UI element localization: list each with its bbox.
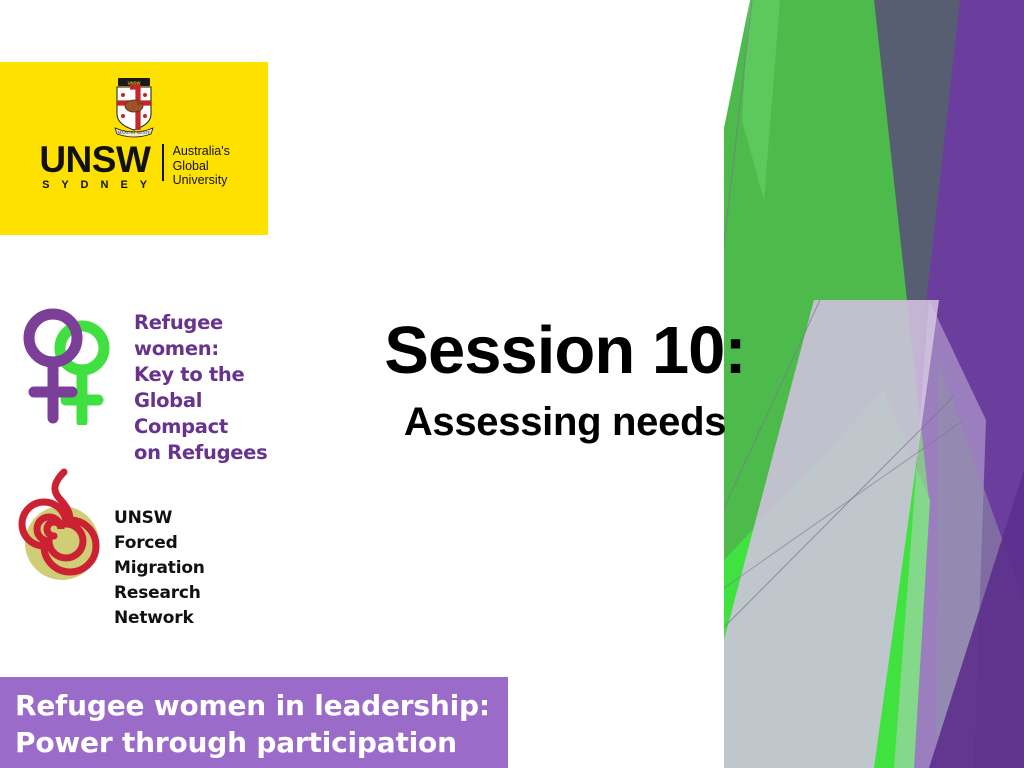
refugee-women-line-3: Global Compact — [134, 388, 286, 440]
refugee-women-logo: Refugee women: Key to the Global Compact… — [16, 300, 286, 425]
fmrn-line-2: Forced Migration — [114, 531, 273, 581]
page-subtitle: Assessing needs — [300, 398, 830, 446]
unsw-tagline: Australia's Global University — [173, 142, 230, 188]
unsw-tagline-line-3: University — [173, 173, 230, 188]
interlocking-female-symbols-icon — [16, 300, 120, 425]
presentation-slide: UNSW MANU ET MENTE UNSW S Y D N E Y — [0, 0, 1024, 768]
page-title: Session 10: — [300, 312, 830, 390]
footer-banner-line-2: Power through participation — [15, 724, 508, 761]
fmrn-line-1: UNSW — [114, 506, 273, 531]
footer-banner-line-1: Refugee women in leadership: — [15, 687, 508, 724]
unsw-tagline-line-1: Australia's — [173, 144, 230, 159]
title-area: Session 10: Assessing needs — [300, 312, 830, 446]
unsw-tagline-line-2: Global — [173, 159, 230, 174]
refugee-women-line-4: on Refugees — [134, 440, 286, 466]
unsw-logo-block: UNSW MANU ET MENTE UNSW S Y D N E Y — [0, 62, 268, 235]
red-spiral-icon — [18, 468, 108, 584]
fmrn-logo-text: UNSW Forced Migration Research Network — [114, 506, 273, 631]
unsw-wordmark: UNSW — [39, 142, 150, 177]
svg-text:MANU ET MENTE: MANU ET MENTE — [118, 130, 151, 135]
footer-banner: Refugee women in leadership: Power throu… — [0, 677, 508, 768]
refugee-women-logo-text: Refugee women: Key to the Global Compact… — [134, 310, 286, 466]
unsw-campus-label: S Y D N E Y — [38, 179, 151, 191]
fmrn-logo: UNSW Forced Migration Research Network — [18, 468, 273, 588]
refugee-women-line-1: Refugee women: — [134, 310, 286, 362]
unsw-divider — [162, 144, 164, 181]
unsw-crest-icon: UNSW MANU ET MENTE — [111, 78, 157, 138]
fmrn-line-3: Research Network — [114, 581, 273, 631]
refugee-women-line-2: Key to the — [134, 362, 286, 388]
